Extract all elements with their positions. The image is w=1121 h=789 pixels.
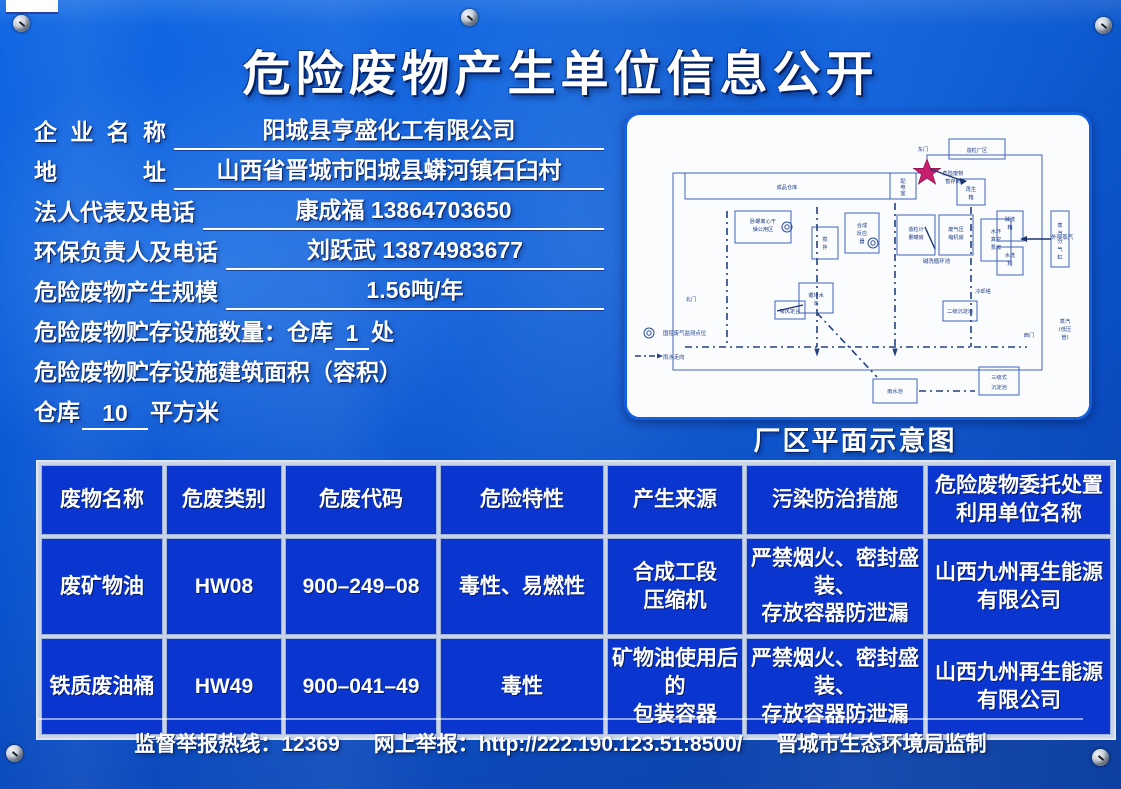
table-header-row: 废物名称 危废类别 危废代码 危险特性 产生来源 污染防治措施 危险废物委托处置… — [41, 465, 1111, 535]
svg-text:水洗: 水洗 — [1005, 251, 1016, 259]
svg-text:碱洗: 碱洗 — [1005, 215, 1016, 223]
mounting-bolt-top-left — [13, 15, 30, 32]
svg-text:吸风定台: 吸风定台 — [780, 307, 801, 315]
svg-text:箱: 箱 — [1007, 259, 1012, 267]
info-row-storage-area-label: 危险废物贮存设施建筑面积（容积） — [34, 350, 604, 390]
cell-waste-code: 900–249–08 — [285, 538, 437, 635]
hazardous-waste-table: 废物名称 危废类别 危废代码 危险特性 产生来源 污染防治措施 危险废物委托处置… — [36, 460, 1116, 740]
hazardous-waste-table-wrapper: 废物名称 危废类别 危废代码 危险特性 产生来源 污染防治措施 危险废物委托处置… — [36, 460, 1088, 740]
cell-source: 合成工段压缩机 — [607, 538, 743, 635]
info-row-env-officer: 环保负责人及电话 刘跃武 13874983677 — [34, 230, 604, 270]
info-prefix-storage-area: 仓库 — [34, 393, 80, 430]
cell-entrusted-unit: 山西九州再生能源有限公司 — [927, 638, 1111, 735]
svg-text:成品仓库: 成品仓库 — [777, 183, 798, 191]
svg-text:废气压: 废气压 — [948, 225, 964, 233]
table-row: 废矿物油 HW08 900–249–08 毒性、易燃性 合成工段压缩机 严禁烟火… — [41, 538, 1111, 635]
mounting-bolt-bottom-left — [6, 745, 23, 762]
svg-text:雨水走向: 雨水走向 — [663, 353, 685, 361]
cell-waste-code: 900–041–49 — [285, 638, 437, 735]
info-label-legal-rep: 法人代表及电话 — [34, 193, 195, 230]
cell-entrusted-unit: 山西九州再生能源有限公司 — [927, 538, 1111, 635]
info-label-company-name: 企业名称 — [34, 113, 166, 150]
cell-hazard-property: 毒性 — [440, 638, 604, 735]
th-entrusted-unit: 危险废物委托处置利用单位名称 — [927, 465, 1111, 535]
info-row-storage-count: 危险废物贮存设施数量：仓库 1 处 — [34, 310, 604, 350]
svg-text:池: 池 — [813, 299, 818, 307]
cell-waste-name: 废矿物油 — [41, 538, 163, 635]
svg-text:碱洗循环池: 碱洗循环池 — [923, 257, 951, 265]
site-plan-caption: 厂区平面示意图 — [624, 419, 1086, 458]
cell-hazard-property: 毒性、易燃性 — [440, 538, 604, 635]
th-hazard-property: 危险特性 — [440, 465, 604, 535]
svg-text:东门: 东门 — [918, 145, 928, 153]
mounting-bolt-top-center — [461, 9, 478, 26]
info-value-env-officer: 刘跃武 13874983677 — [226, 231, 604, 270]
cell-pollution-measures: 严禁烟火、密封盛装、存放容器防泄漏 — [746, 638, 924, 735]
svg-text:二级沉淀池: 二级沉淀池 — [947, 307, 973, 315]
site-plan-drawing: 成品仓库 配电室 造粒厂区 卧螺离心干燥公用区 搅拌 合成反应器 造粒计量罐房 … — [627, 115, 1089, 417]
svg-text:冷却塔: 冷却塔 — [975, 287, 991, 295]
mounting-bolt-top-right — [1095, 17, 1112, 34]
svg-text:室: 室 — [900, 189, 905, 197]
svg-text:造粒厂区: 造粒厂区 — [967, 146, 988, 154]
info-row-legal-rep: 法人代表及电话 康成福 13864703650 — [34, 190, 604, 230]
svg-text:蒸: 蒸 — [1057, 221, 1062, 229]
svg-text:电: 电 — [900, 183, 905, 191]
footer-online-report: 网上举报：http://222.190.123.51:8500/ — [374, 728, 743, 758]
th-waste-code: 危废代码 — [285, 465, 437, 535]
info-suffix-storage-count: 处 — [371, 313, 394, 350]
cell-source: 矿物油使用后的包装容器 — [607, 638, 743, 735]
svg-text:合成: 合成 — [857, 221, 867, 229]
info-row-storage-area-value: 仓库 10 平方米 — [34, 390, 604, 430]
th-pollution-measures: 污染防治措施 — [746, 465, 924, 535]
company-info-block: 企业名称 阳城县亨盛化工有限公司 地 址 山西省晋城市阳城县蟒河镇石臼村 法人代… — [34, 110, 604, 430]
page-title: 危险废物产生单位信息公开 — [0, 34, 1121, 104]
info-value-legal-rep: 康成福 13864703650 — [203, 191, 604, 230]
svg-text:箱: 箱 — [1007, 223, 1012, 231]
svg-text:沉淀池: 沉淀池 — [991, 383, 1007, 391]
info-value-storage-area: 10 — [82, 400, 148, 430]
svg-text:器: 器 — [859, 238, 865, 245]
svg-text:真空: 真空 — [991, 235, 1001, 243]
footer-hotline: 监督举报热线：12369 — [134, 728, 339, 758]
svg-text:搅: 搅 — [822, 235, 827, 243]
footer-bar: 监督举报热线：12369 网上举报：http://222.190.123.51:… — [0, 728, 1121, 758]
svg-text:雨水池: 雨水池 — [887, 387, 903, 395]
info-value-storage-count: 1 — [335, 320, 369, 350]
svg-text:管): 管) — [1061, 333, 1068, 341]
th-waste-name: 废物名称 — [41, 465, 163, 535]
svg-text:燥公用区: 燥公用区 — [753, 225, 774, 233]
info-label-generation-scale: 危险废物产生规模 — [34, 273, 218, 310]
svg-text:箱: 箱 — [968, 193, 973, 201]
svg-text:造粒计: 造粒计 — [908, 225, 924, 233]
svg-text:三级式: 三级式 — [991, 373, 1007, 381]
info-label-address: 地 址 — [34, 153, 166, 190]
table-row: 铁质废油桶 HW49 900–041–49 毒性 矿物油使用后的包装容器 严禁烟… — [41, 638, 1111, 735]
cell-pollution-measures: 严禁烟火、密封盛装、存放容器防泄漏 — [746, 538, 924, 635]
th-waste-category: 危废类别 — [166, 465, 282, 535]
cell-waste-category: HW08 — [166, 538, 282, 635]
site-plan-panel: 成品仓库 配电室 造粒厂区 卧螺离心干燥公用区 搅拌 合成反应器 造粒计量罐房 … — [624, 112, 1092, 420]
footer-divider — [38, 718, 1083, 720]
svg-text:反应: 反应 — [857, 229, 867, 237]
svg-text:危险废物: 危险废物 — [943, 169, 964, 177]
info-row-address: 地 址 山西省晋城市阳城县蟒河镇石臼村 — [34, 150, 604, 190]
svg-text:西门: 西门 — [1024, 331, 1034, 339]
svg-text:缩机房: 缩机房 — [948, 233, 964, 241]
th-source: 产生来源 — [607, 465, 743, 535]
svg-text:暂存间: 暂存间 — [945, 177, 961, 185]
svg-text:循环水: 循环水 — [808, 291, 824, 299]
footer-authority: 晋城市生态环境局监制 — [777, 728, 987, 758]
svg-text:(低压: (低压 — [1059, 325, 1071, 333]
svg-text:再生: 再生 — [966, 185, 976, 193]
svg-text:蒸汽: 蒸汽 — [1060, 317, 1071, 325]
svg-text:量罐房: 量罐房 — [908, 233, 924, 241]
svg-text:缸: 缸 — [1057, 253, 1062, 261]
svg-text:配: 配 — [900, 178, 906, 185]
cell-waste-name: 铁质废油桶 — [41, 638, 163, 735]
svg-text:国控废气监测点位: 国控废气监测点位 — [663, 329, 707, 337]
svg-text:卧螺离心干: 卧螺离心干 — [750, 217, 776, 225]
info-label-storage-area: 危险废物贮存设施建筑面积（容积） — [34, 353, 402, 390]
info-label-env-officer: 环保负责人及电话 — [34, 233, 218, 270]
info-value-company-name: 阳城县亨盛化工有限公司 — [174, 111, 604, 150]
info-label-storage-count: 危险废物贮存设施数量：仓库 — [34, 313, 333, 350]
cell-waste-category: HW49 — [166, 638, 282, 735]
svg-text:北门: 北门 — [686, 295, 696, 303]
svg-text:泵房: 泵房 — [991, 243, 1001, 251]
info-row-company-name: 企业名称 阳城县亨盛化工有限公司 — [34, 110, 604, 150]
information-board: 危险废物产生单位信息公开 企业名称 阳城县亨盛化工有限公司 地 址 山西省晋城市… — [0, 0, 1121, 789]
mounting-bolt-bottom-right — [1092, 749, 1109, 766]
board-top-notch — [6, 0, 58, 14]
svg-text:拌: 拌 — [822, 243, 827, 251]
info-row-generation-scale: 危险废物产生规模 1.56吨/年 — [34, 270, 604, 310]
info-value-generation-scale: 1.56吨/年 — [226, 271, 604, 310]
svg-text:气: 气 — [1057, 245, 1062, 253]
info-value-address: 山西省晋城市阳城县蟒河镇石臼村 — [174, 151, 604, 190]
svg-text:外接蒸汽: 外接蒸汽 — [1051, 233, 1073, 241]
info-suffix-storage-area: 平方米 — [150, 393, 219, 430]
svg-text:水环: 水环 — [991, 227, 1001, 235]
